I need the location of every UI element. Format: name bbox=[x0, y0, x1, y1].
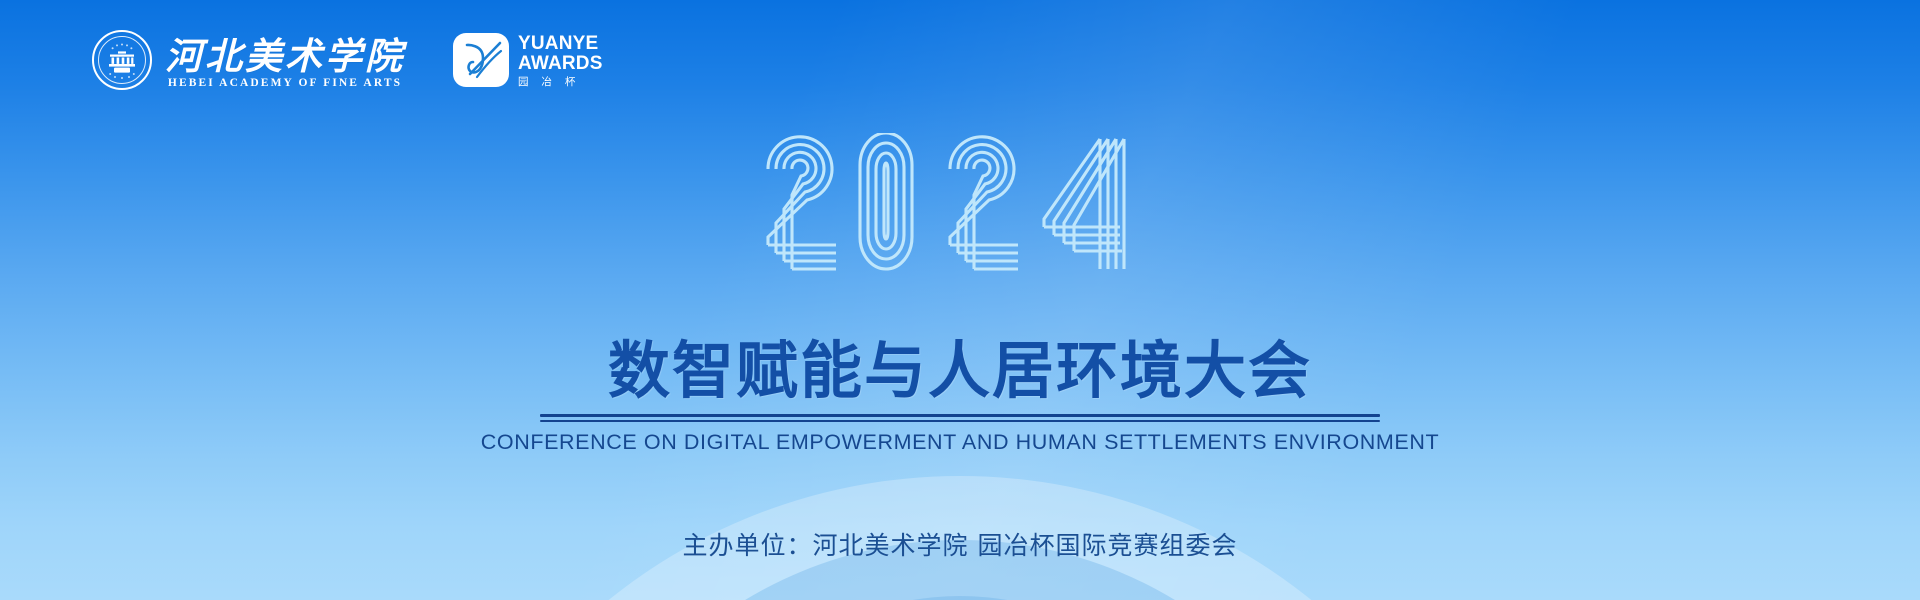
conference-title-cn: 数智赋能与人居环境大会 bbox=[608, 338, 1312, 405]
yuanye-awards-logo[interactable]: YUANYE AWARDS 园 冶 杯 bbox=[453, 33, 603, 88]
decorative-arc-inner bbox=[680, 596, 1240, 600]
conference-subtitle-en: CONFERENCE ON DIGITAL EMPOWERMENT AND HU… bbox=[481, 432, 1439, 454]
award-line2: AWARDS bbox=[518, 54, 603, 73]
organizer-line: 主办单位：河北美术学院 园冶杯国际竞赛组委会 bbox=[0, 533, 1920, 558]
academy-name-en: HEBEI ACADEMY OF FINE ARTS bbox=[168, 78, 402, 90]
headline-block: 数智赋能与人居环境大会 CONFERENCE ON DIGITAL EMPOWE… bbox=[0, 338, 1920, 453]
award-line3-cn: 园 冶 杯 bbox=[518, 77, 603, 88]
academy-name-cn: 河北美术学院 bbox=[165, 39, 405, 76]
yuanye-y-mark-icon bbox=[453, 33, 509, 87]
background-sheen bbox=[0, 0, 1920, 600]
year-2024-graphic bbox=[760, 133, 1160, 275]
logo-bar: 河北美术学院 HEBEI ACADEMY OF FINE ARTS YUANYE… bbox=[92, 30, 603, 90]
conference-banner: 河北美术学院 HEBEI ACADEMY OF FINE ARTS YUANYE… bbox=[0, 0, 1920, 600]
title-divider bbox=[540, 414, 1380, 422]
award-line1: YUANYE bbox=[518, 34, 603, 53]
academy-seal-icon bbox=[92, 30, 152, 90]
hebei-academy-logo[interactable]: 河北美术学院 HEBEI ACADEMY OF FINE ARTS bbox=[92, 30, 405, 90]
year-2024 bbox=[0, 133, 1920, 275]
